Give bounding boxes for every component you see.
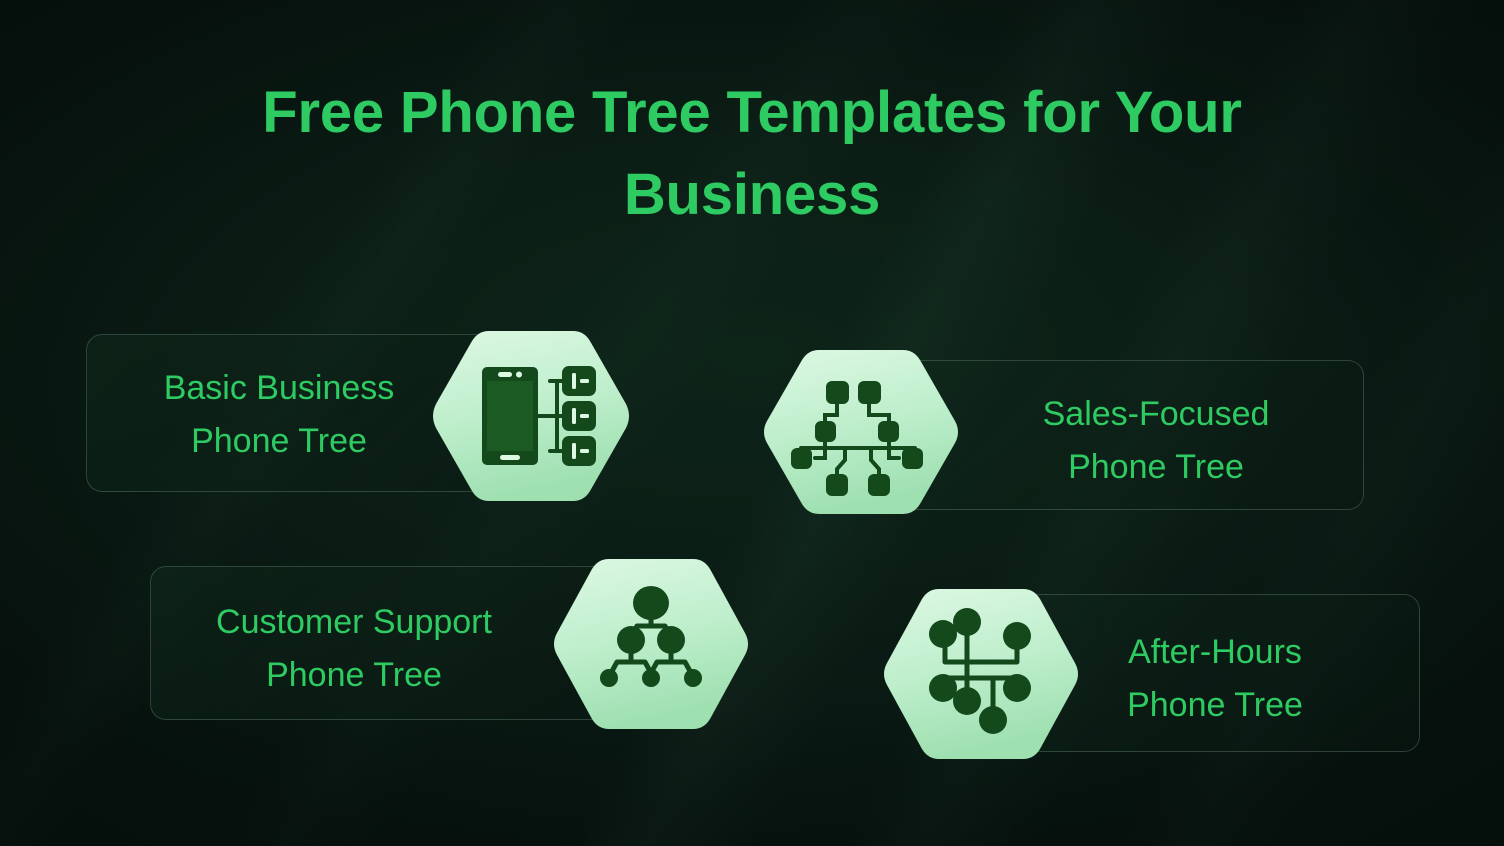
smartphone-branch-icon [432, 325, 630, 507]
circuit-tree-icon [763, 345, 959, 519]
template-card-label-sales-focused: Sales-Focused Phone Tree [948, 388, 1364, 493]
node-network-icon [883, 584, 1079, 764]
infographic-canvas: Free Phone Tree Templates for Your Busin… [0, 0, 1504, 846]
template-card-label-basic-business: Basic Business Phone Tree [98, 362, 460, 467]
org-chart-tree-icon [553, 554, 749, 734]
page-title: Free Phone Tree Templates for Your Busin… [0, 72, 1504, 237]
template-card-label-customer-support: Customer Support Phone Tree [164, 596, 544, 701]
